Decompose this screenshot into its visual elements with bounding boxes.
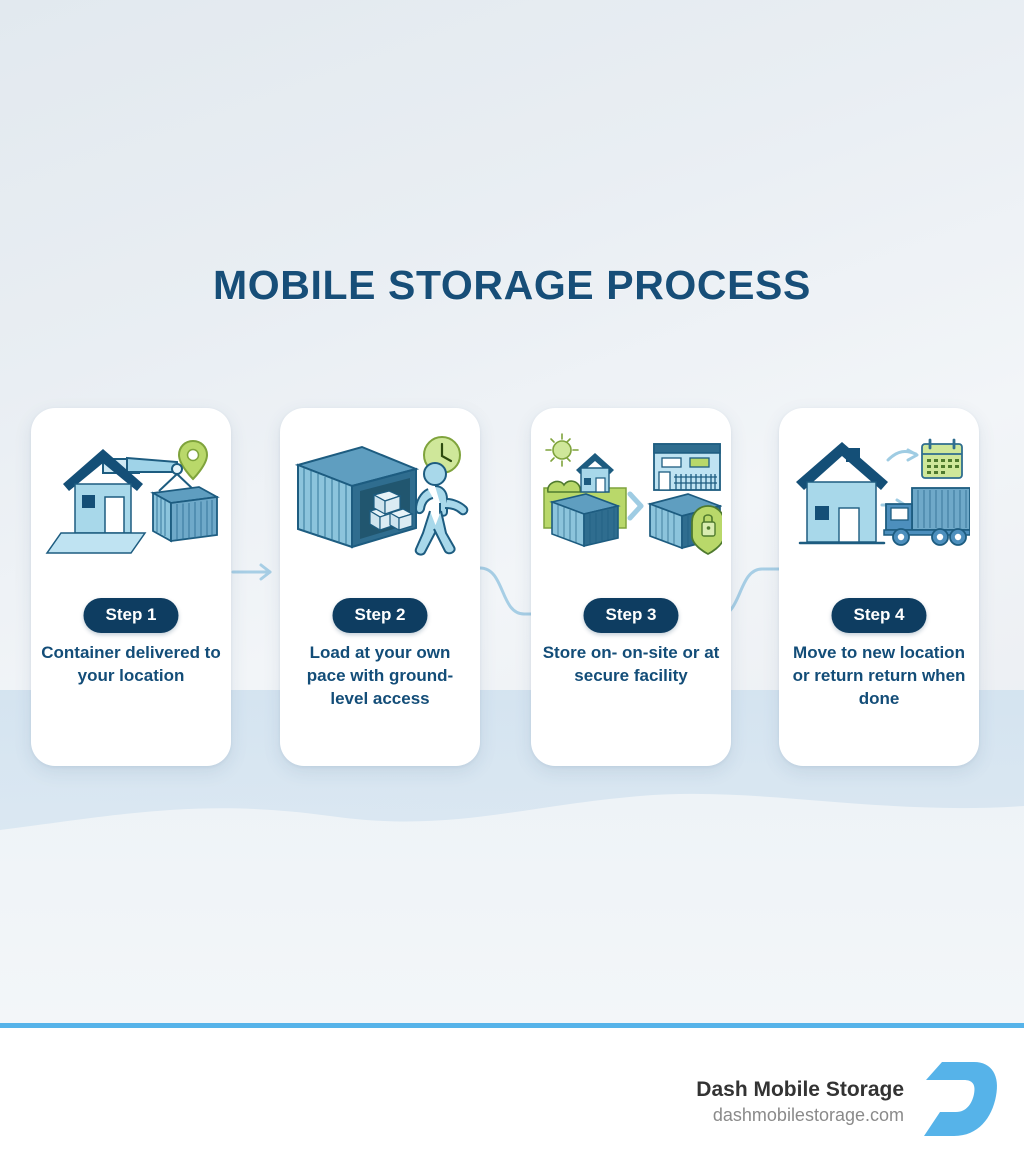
step-3-text: Store on- on-site or at secure facility [539, 641, 723, 687]
footer: Dash Mobile Storage dashmobilestorage.co… [0, 1028, 1024, 1154]
step-4-badge: Step 4 [831, 598, 926, 633]
dash-d-logo-icon [922, 1056, 1000, 1147]
house-icon [576, 453, 614, 492]
open-container-icon [298, 447, 416, 547]
step-card-4[interactable]: Step 4 Move to new location or return re… [779, 408, 979, 766]
page-title: MOBILE STORAGE PROCESS [0, 262, 1024, 309]
step-card-1[interactable]: Step 1 Container delivered to your locat… [31, 408, 231, 766]
step-1-illustration [31, 426, 231, 566]
arrow-right-icon [630, 494, 641, 518]
arrow-right-icon [888, 450, 917, 460]
person-walking-icon [416, 463, 468, 555]
house-icon [796, 442, 888, 543]
step-2-illustration [280, 426, 480, 566]
shipping-container-icon [552, 494, 618, 546]
step-4-text: Move to new location or return return wh… [787, 641, 971, 710]
step-3-illustration [531, 426, 731, 566]
infographic-canvas: MOBILE STORAGE PROCESS [0, 0, 1024, 1154]
step-4-illustration [779, 426, 979, 566]
shipping-container-icon [153, 487, 217, 541]
step-card-2[interactable]: Step 2 Load at your own pace with ground… [280, 408, 480, 766]
sun-icon [546, 434, 578, 466]
step-2-badge: Step 2 [332, 598, 427, 633]
step-1-badge: Step 1 [83, 598, 178, 633]
company-name: Dash Mobile Storage [696, 1076, 904, 1103]
step-2-text: Load at your own pace with ground-level … [288, 641, 472, 710]
location-pin-icon [179, 441, 207, 479]
storage-facility-icon [654, 444, 720, 490]
step-3-badge: Step 3 [583, 598, 678, 633]
bush-icon [548, 481, 580, 492]
calendar-icon [922, 440, 962, 478]
delivery-truck-icon [884, 488, 970, 545]
steps-row: Step 1 Container delivered to your locat… [0, 408, 1024, 768]
step-card-3[interactable]: Step 3 Store on- on-site or at secure fa… [531, 408, 731, 766]
website-url[interactable]: dashmobilestorage.com [696, 1103, 904, 1127]
step-1-text: Container delivered to your location [39, 641, 223, 687]
padlock-icon [692, 506, 722, 554]
